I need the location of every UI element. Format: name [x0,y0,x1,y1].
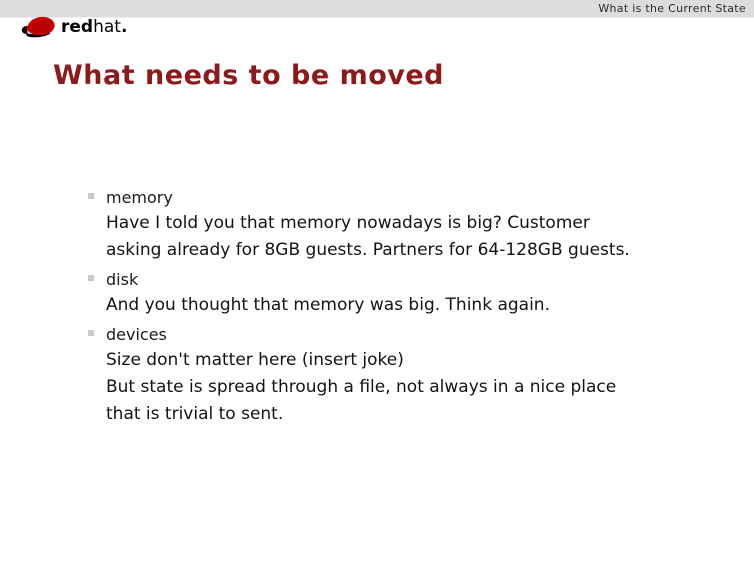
list-item-description: Have I told you that memory nowadays is … [106,210,726,264]
slide-body: memory Have I told you that memory nowad… [86,186,726,432]
page-title: What needs to be moved [53,59,444,93]
redhat-wordmark: redhat. [61,19,127,36]
list-item: devices Size don't matter here (insert j… [86,323,726,428]
list-item-label: memory [106,186,726,210]
description-line: asking already for 8GB guests. Partners … [106,237,726,264]
description-line: And you thought that memory was big. Thi… [106,292,726,319]
logo-word-red: red [61,17,93,37]
list-item: memory Have I told you that memory nowad… [86,186,726,264]
description-line: Size don't matter here (insert joke) [106,347,726,374]
list-item: disk And you thought that memory was big… [86,268,726,319]
logo-word-period: . [121,17,127,37]
square-bullet-icon [88,275,94,281]
square-bullet-icon [88,193,94,199]
section-title: What is the Current State [598,1,746,16]
redhat-shadowman-icon [18,13,60,39]
presentation-slide: What is the Current State redhat. What n… [0,0,754,566]
list-item-description: And you thought that memory was big. Thi… [106,292,726,319]
logo-word-hat: hat [93,17,121,37]
description-line: that is trivial to sent. [106,401,726,428]
description-line: Have I told you that memory nowadays is … [106,210,726,237]
list-item-label: disk [106,268,726,292]
list-item-description: Size don't matter here (insert joke) But… [106,347,726,428]
square-bullet-icon [88,330,94,336]
list-item-label: devices [106,323,726,347]
redhat-logo: redhat. [18,9,127,39]
description-line: But state is spread through a file, not … [106,374,726,401]
